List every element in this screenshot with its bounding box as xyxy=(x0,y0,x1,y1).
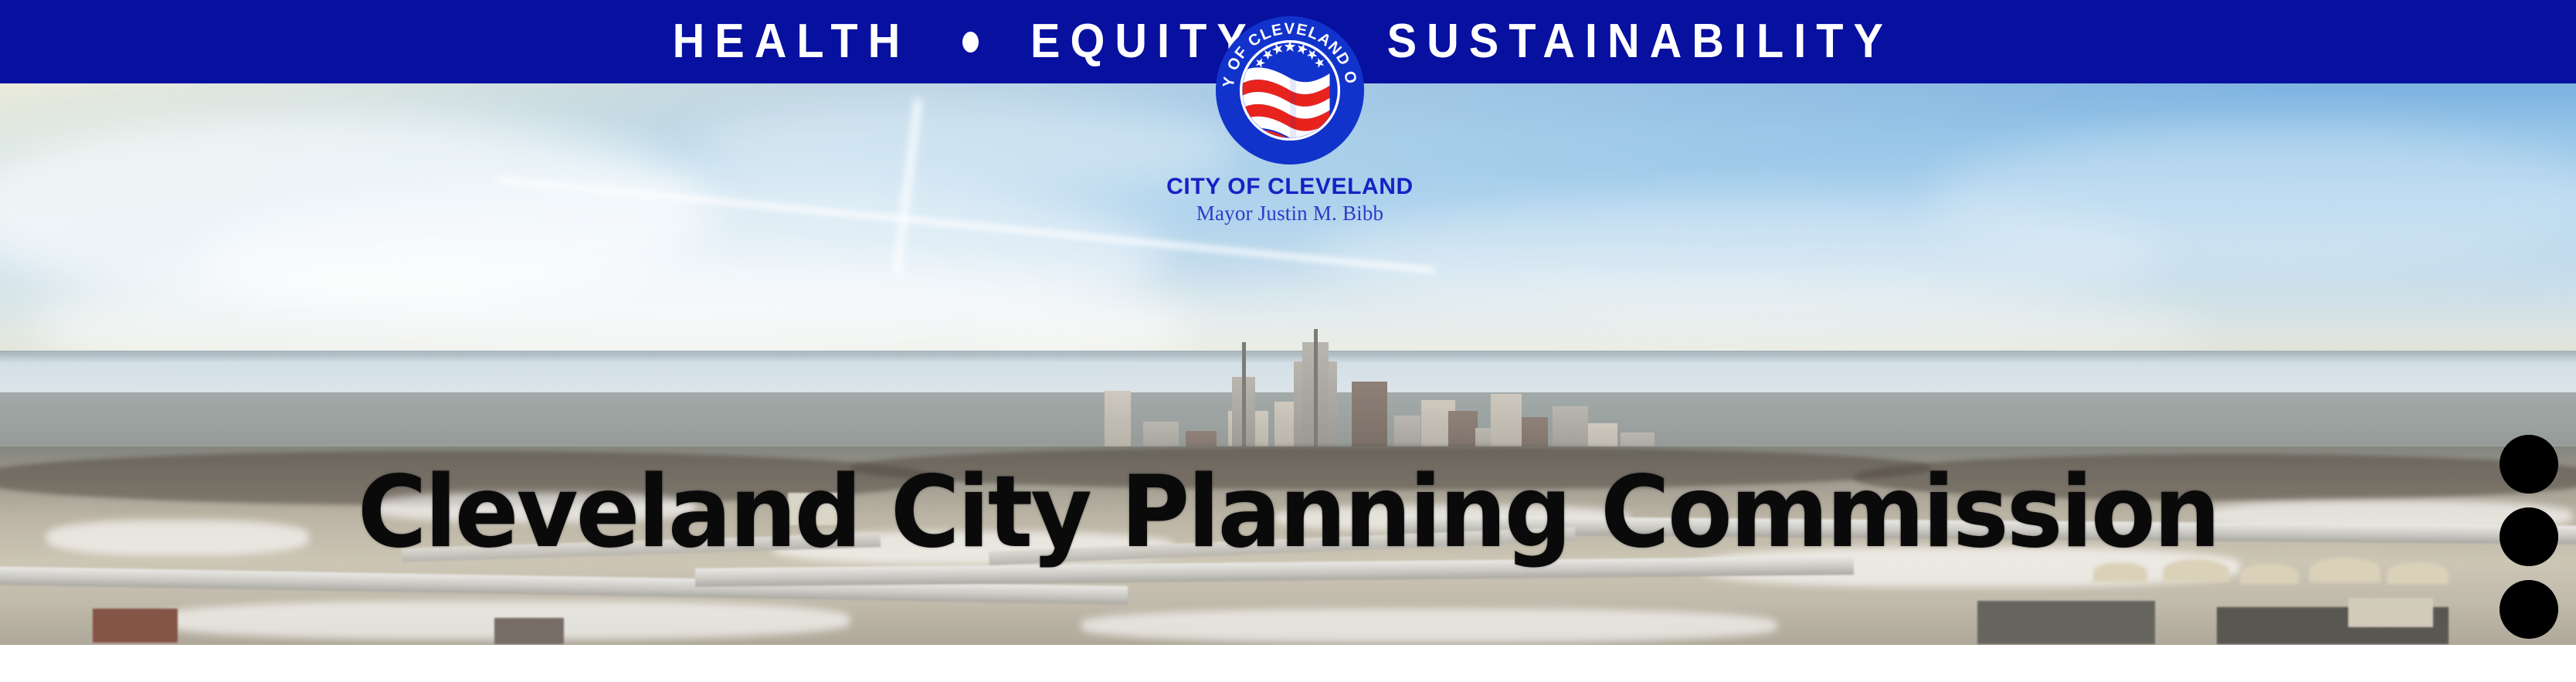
page-title: Cleveland City Planning Commission xyxy=(58,463,2518,562)
social-links-rail xyxy=(2500,435,2558,639)
building xyxy=(494,618,564,644)
tagline-word-health: HEALTH xyxy=(673,18,911,66)
facebook-icon[interactable] xyxy=(2500,580,2558,639)
mayor-name-label: Mayor Justin M. Bibb xyxy=(1135,202,1444,224)
snow-patch xyxy=(1081,609,1777,643)
building xyxy=(93,609,178,643)
gravel-pile xyxy=(2240,564,2299,584)
building xyxy=(1977,601,2155,644)
tagline-word-sustainability: SUSTAINABILITY xyxy=(1387,18,1893,66)
city-name-label: CITY OF CLEVELAND xyxy=(1135,175,1444,199)
city-logo-lockup[interactable]: CITY OF CLEVELAND OHIO xyxy=(1135,14,1444,224)
instagram-icon[interactable] xyxy=(2500,507,2558,566)
youtube-icon[interactable] xyxy=(2500,435,2558,494)
gravel-pile xyxy=(2387,562,2449,584)
page-root: HEALTH EQUITY SUSTAINABILITY xyxy=(0,0,2576,682)
bottom-white-strip xyxy=(0,645,2576,682)
tagline-separator-dot-1 xyxy=(962,32,979,53)
city-of-cleveland-seal-icon: CITY OF CLEVELAND OHIO xyxy=(1213,14,1366,167)
building xyxy=(2348,598,2433,627)
